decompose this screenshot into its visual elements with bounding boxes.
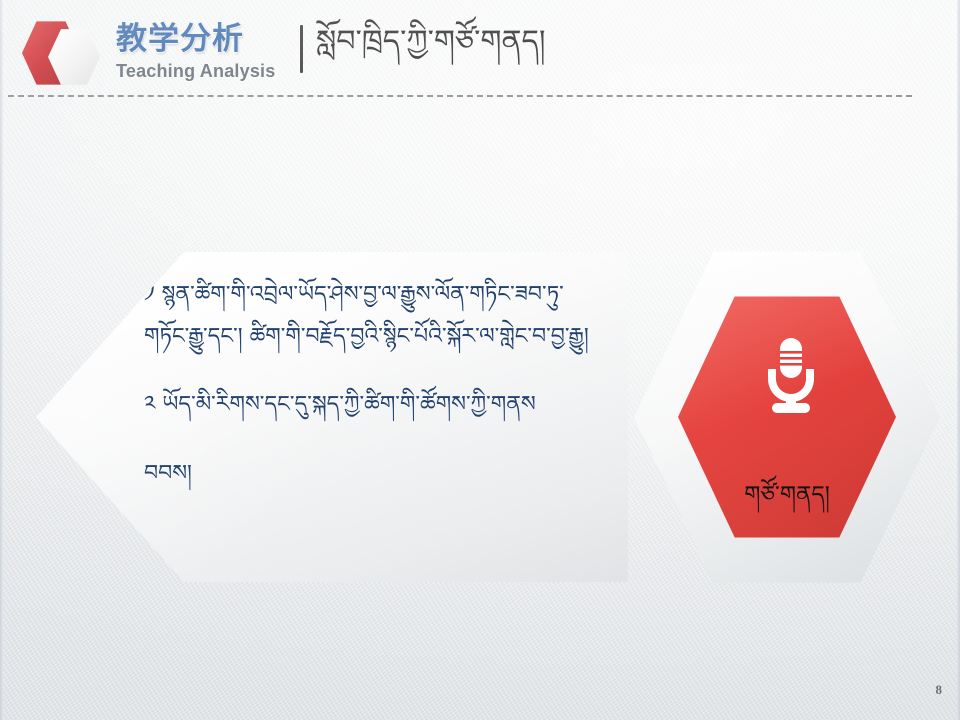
panel-paragraph-2: ༢ ཡོད་མི་རིགས་དང་དུ་སྐད་ཀྱི་ཚིག་གི་ཚོགས་… [144, 384, 606, 426]
panel-paragraph-1: ༡ སྙན་ཚིག་གི་འབྲེལ་ཡོད་ཤེས་བྱ་ལ་རྒྱུས་ལོ… [144, 274, 606, 358]
page-title-cn: 教学分析 [116, 24, 244, 55]
page-title-en: Teaching Analysis [116, 62, 275, 80]
page-edge-left [0, 0, 3, 720]
hexagon-badge[interactable]: གཙོ་གནད། [634, 248, 940, 586]
microphone-icon [760, 338, 822, 416]
header-divider-bar [300, 25, 303, 73]
panel-paragraph-3: བབས། [144, 453, 606, 495]
slide-header: 教学分析 Teaching Analysis སློབ་ཁྲིད་ཀྱི་གཙོ… [0, 0, 960, 100]
hexagon-badge-label: གཙོ་གནད། [678, 484, 896, 507]
page-title-tibetan: སློབ་ཁྲིད་ཀྱི་གཙོ་གནད། [316, 22, 546, 63]
slide-canvas: 教学分析 Teaching Analysis སློབ་ཁྲིད་ཀྱི་གཙོ… [0, 0, 960, 720]
hexagon-logo-icon [22, 18, 128, 90]
content-arrow-panel: ༡ སྙན་ཚིག་གི་འབྲེལ་ཡོད་ཤེས་བྱ་ལ་རྒྱུས་ལོ… [36, 252, 628, 582]
panel-body-text: ༡ སྙན་ཚིག་གི་འབྲེལ་ཡོད་ཤེས་བྱ་ལ་རྒྱུས་ལོ… [144, 274, 606, 499]
header-dashed-separator [8, 95, 912, 97]
page-number: 8 [936, 682, 943, 698]
